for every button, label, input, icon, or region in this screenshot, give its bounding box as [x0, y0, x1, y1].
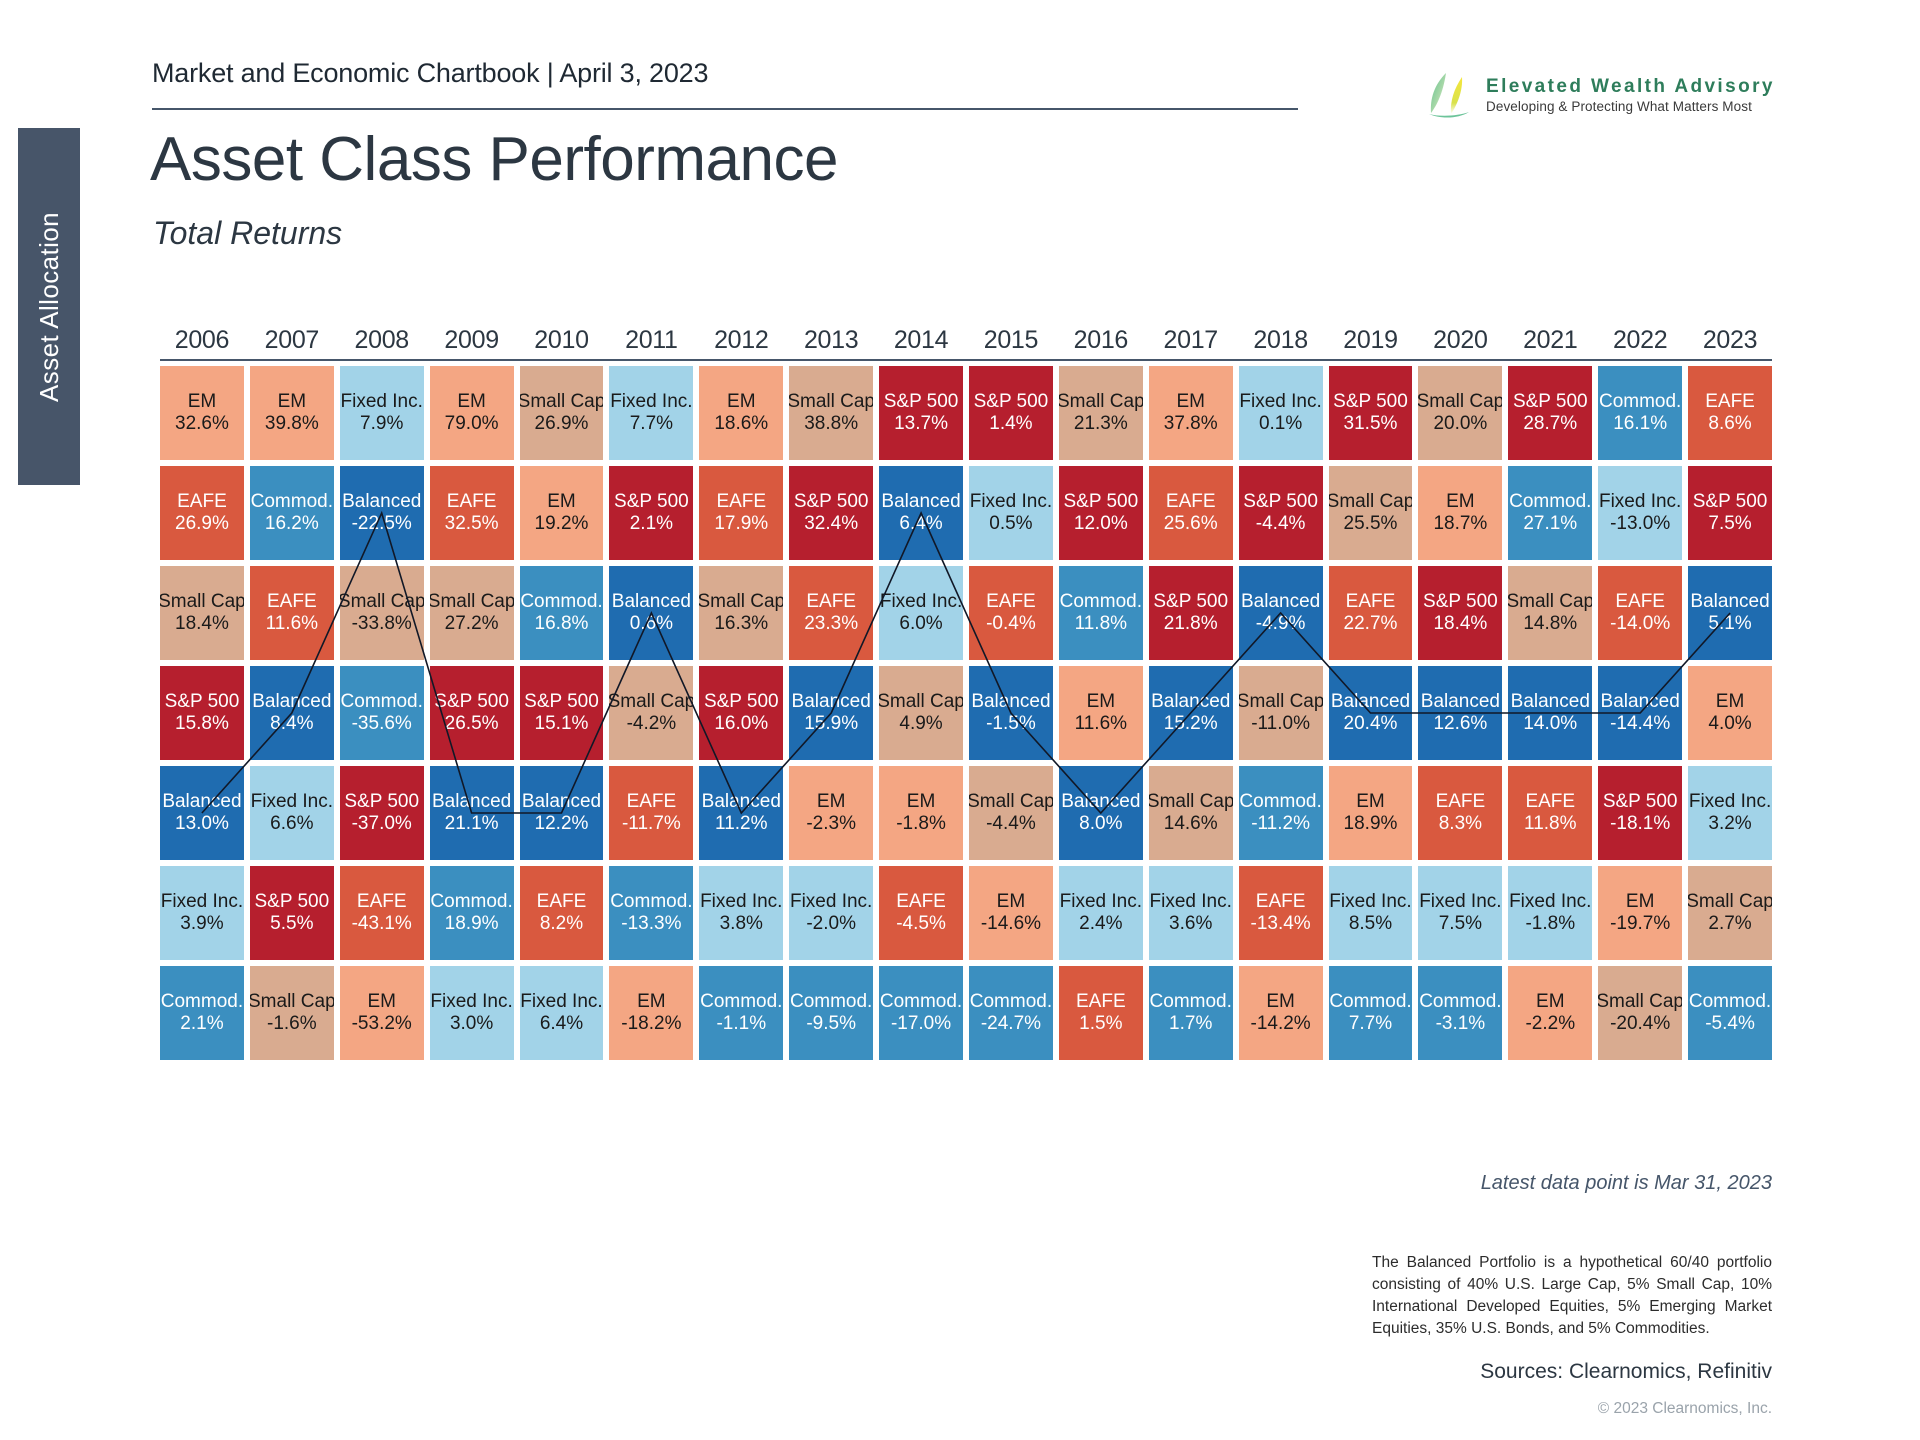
- performance-cell: EM-14.2%: [1239, 966, 1323, 1060]
- performance-cell: EM-2.3%: [789, 766, 873, 860]
- performance-cell: Balanced20.4%: [1329, 666, 1413, 760]
- asset-class-label: Commod.: [1419, 991, 1501, 1013]
- year-header: 2018: [1239, 326, 1323, 355]
- asset-class-label: Small Cap: [1688, 891, 1772, 913]
- return-value: 5.5%: [270, 913, 313, 935]
- performance-cell: Commod.-11.2%: [1239, 766, 1323, 860]
- asset-class-label: Fixed Inc.: [1060, 891, 1142, 913]
- return-value: 5.1%: [1708, 613, 1751, 635]
- return-value: 21.3%: [1074, 413, 1128, 435]
- performance-cell: EM39.8%: [250, 366, 334, 460]
- performance-cell: Commod.16.8%: [520, 566, 604, 660]
- performance-cell: Commod.-9.5%: [789, 966, 873, 1060]
- performance-cell: Fixed Inc.3.8%: [699, 866, 783, 960]
- return-value: -2.0%: [806, 913, 856, 935]
- performance-cell: Small Cap-4.2%: [609, 666, 693, 760]
- return-value: -18.2%: [621, 1013, 681, 1035]
- return-value: 18.4%: [175, 613, 229, 635]
- performance-cell: S&P 500-18.1%: [1598, 766, 1682, 860]
- return-value: -53.2%: [352, 1013, 412, 1035]
- asset-class-label: Fixed Inc.: [1509, 891, 1591, 913]
- return-value: -4.4%: [1256, 513, 1306, 535]
- performance-cell: Fixed Inc.6.4%: [520, 966, 604, 1060]
- performance-cell: EAFE17.9%: [699, 466, 783, 560]
- return-value: 37.8%: [1164, 413, 1218, 435]
- return-value: 8.6%: [1708, 413, 1751, 435]
- return-value: 15.1%: [535, 713, 589, 735]
- performance-cell: Small Cap27.2%: [430, 566, 514, 660]
- return-value: 7.9%: [360, 413, 403, 435]
- return-value: 3.2%: [1708, 813, 1751, 835]
- performance-cell: Fixed Inc.7.7%: [609, 366, 693, 460]
- asset-class-label: EAFE: [1256, 891, 1306, 913]
- return-value: -11.0%: [1251, 713, 1310, 735]
- asset-class-performance-table: 2006200720082009201020112012201320142015…: [160, 326, 1772, 1060]
- return-value: 12.6%: [1433, 713, 1487, 735]
- asset-class-label: S&P 500: [254, 891, 329, 913]
- performance-cell: Commod.16.1%: [1598, 366, 1682, 460]
- performance-cell: Commod.1.7%: [1149, 966, 1233, 1060]
- performance-cell: Commod.-24.7%: [969, 966, 1053, 1060]
- asset-class-label: EAFE: [1076, 991, 1126, 1013]
- chartbook-page: Asset Allocation Market and Economic Cha…: [0, 0, 1920, 1440]
- performance-cell: EAFE-4.5%: [879, 866, 963, 960]
- performance-cell: Balanced8.4%: [250, 666, 334, 760]
- performance-cell: EM19.2%: [520, 466, 604, 560]
- performance-cell: Small Cap-20.4%: [1598, 966, 1682, 1060]
- return-value: 18.4%: [1433, 613, 1487, 635]
- return-value: 39.8%: [265, 413, 319, 435]
- chartbook-kicker: Market and Economic Chartbook | April 3,…: [152, 58, 708, 89]
- asset-class-label: Balanced: [1331, 691, 1410, 713]
- return-value: 28.7%: [1523, 413, 1577, 435]
- asset-class-label: S&P 500: [1243, 491, 1318, 513]
- return-value: 3.0%: [450, 1013, 493, 1035]
- performance-cell: Commod.11.8%: [1059, 566, 1143, 660]
- asset-class-label: Fixed Inc.: [880, 591, 962, 613]
- performance-cell: Commod.-17.0%: [879, 966, 963, 1060]
- asset-class-label: Fixed Inc.: [1599, 491, 1681, 513]
- return-value: 0.5%: [989, 513, 1032, 535]
- performance-cell: Commod.7.7%: [1329, 966, 1413, 1060]
- asset-class-label: Commod.: [1150, 991, 1232, 1013]
- return-value: 22.7%: [1344, 613, 1398, 635]
- asset-class-label: S&P 500: [1063, 491, 1138, 513]
- performance-cell: EM4.0%: [1688, 666, 1772, 760]
- performance-cell: Fixed Inc.0.1%: [1239, 366, 1323, 460]
- sailboat-leaf-icon: [1424, 69, 1476, 121]
- asset-class-label: S&P 500: [884, 391, 959, 413]
- return-value: 16.3%: [714, 613, 768, 635]
- year-header: 2021: [1508, 326, 1592, 355]
- asset-class-label: EM: [1536, 991, 1565, 1013]
- asset-class-label: Small Cap: [430, 591, 514, 613]
- asset-class-label: Balanced: [1690, 591, 1769, 613]
- asset-class-label: S&P 500: [165, 691, 240, 713]
- year-header: 2012: [699, 326, 783, 355]
- performance-cell: S&P 500-4.4%: [1239, 466, 1323, 560]
- performance-cell: EM37.8%: [1149, 366, 1233, 460]
- performance-cell: EM11.6%: [1059, 666, 1143, 760]
- performance-cell: EAFE11.8%: [1508, 766, 1592, 860]
- return-value: -9.5%: [806, 1013, 856, 1035]
- asset-class-label: EAFE: [1525, 791, 1575, 813]
- asset-class-label: S&P 500: [1423, 591, 1498, 613]
- performance-cell: Commod.-35.6%: [340, 666, 424, 760]
- performance-cell: Balanced6.4%: [879, 466, 963, 560]
- performance-cell: Small Cap-11.0%: [1239, 666, 1323, 760]
- asset-class-label: Commod.: [520, 591, 602, 613]
- page-title: Asset Class Performance: [150, 124, 838, 195]
- return-value: 19.2%: [535, 513, 589, 535]
- return-value: 11.6%: [1075, 713, 1127, 735]
- performance-cell: Small Cap14.6%: [1149, 766, 1233, 860]
- asset-class-label: Commod.: [970, 991, 1052, 1013]
- asset-class-label: EM: [1266, 991, 1295, 1013]
- performance-cell: EAFE-13.4%: [1239, 866, 1323, 960]
- performance-cell-grid: EM32.6%EM39.8%Fixed Inc.7.9%EM79.0%Small…: [160, 366, 1772, 1060]
- return-value: 25.6%: [1164, 513, 1218, 535]
- return-value: 16.0%: [714, 713, 768, 735]
- asset-class-label: EM: [367, 991, 396, 1013]
- asset-class-label: Fixed Inc.: [430, 991, 512, 1013]
- return-value: 12.0%: [1074, 513, 1128, 535]
- performance-cell: Commod.-3.1%: [1418, 966, 1502, 1060]
- performance-cell: Balanced12.2%: [520, 766, 604, 860]
- return-value: -43.1%: [352, 913, 412, 935]
- performance-cell: Balanced-1.5%: [969, 666, 1053, 760]
- return-value: 18.6%: [714, 413, 768, 435]
- return-value: 3.9%: [180, 913, 223, 935]
- asset-class-label: Commod.: [251, 491, 333, 513]
- asset-class-label: Balanced: [1421, 691, 1500, 713]
- section-tab-asset-allocation: Asset Allocation: [18, 128, 80, 485]
- performance-cell: EAFE32.5%: [430, 466, 514, 560]
- performance-cell: EAFE11.6%: [250, 566, 334, 660]
- return-value: 7.5%: [1439, 913, 1482, 935]
- return-value: -14.0%: [1610, 613, 1670, 635]
- performance-cell: Fixed Inc.7.5%: [1418, 866, 1502, 960]
- asset-class-label: EM: [1087, 691, 1116, 713]
- return-value: 1.7%: [1169, 1013, 1212, 1035]
- return-value: 26.9%: [175, 513, 229, 535]
- year-header: 2007: [250, 326, 334, 355]
- performance-cell: S&P 50012.0%: [1059, 466, 1143, 560]
- asset-class-label: Fixed Inc.: [1329, 891, 1411, 913]
- return-value: 15.9%: [804, 713, 858, 735]
- return-value: 15.2%: [1164, 713, 1218, 735]
- asset-class-label: EM: [727, 391, 756, 413]
- performance-cell: EM-1.8%: [879, 766, 963, 860]
- asset-class-label: Commod.: [341, 691, 423, 713]
- asset-class-label: Commod.: [161, 991, 243, 1013]
- asset-class-label: Small Cap: [699, 591, 783, 613]
- table-header-divider: [160, 359, 1772, 361]
- performance-cell: EAFE-0.4%: [969, 566, 1053, 660]
- asset-class-label: Fixed Inc.: [1239, 391, 1321, 413]
- asset-class-label: EM: [1356, 791, 1385, 813]
- return-value: 8.4%: [270, 713, 313, 735]
- performance-cell: Balanced-4.9%: [1239, 566, 1323, 660]
- performance-cell: Fixed Inc.3.6%: [1149, 866, 1233, 960]
- return-value: 17.9%: [714, 513, 768, 535]
- performance-cell: Commod.2.1%: [160, 966, 244, 1060]
- return-value: -4.9%: [1256, 613, 1306, 635]
- return-value: 11.6%: [266, 613, 318, 635]
- performance-cell: Small Cap20.0%: [1418, 366, 1502, 460]
- return-value: 2.7%: [1708, 913, 1751, 935]
- performance-cell: Commod.-13.3%: [609, 866, 693, 960]
- performance-cell: Fixed Inc.3.0%: [430, 966, 514, 1060]
- asset-class-label: Small Cap: [609, 691, 693, 713]
- asset-class-label: Commod.: [610, 891, 692, 913]
- asset-class-label: Small Cap: [879, 691, 963, 713]
- return-value: -11.2%: [1251, 813, 1310, 835]
- asset-class-label: EAFE: [806, 591, 856, 613]
- asset-class-label: EM: [1716, 691, 1745, 713]
- performance-cell: Fixed Inc.3.2%: [1688, 766, 1772, 860]
- year-header: 2015: [969, 326, 1053, 355]
- asset-class-label: Small Cap: [1149, 791, 1233, 813]
- return-value: -14.4%: [1610, 713, 1670, 735]
- logo-company-name: Elevated Wealth Advisory: [1486, 76, 1775, 98]
- return-value: 6.4%: [540, 1013, 583, 1035]
- return-value: 11.8%: [1524, 813, 1576, 835]
- asset-class-label: Balanced: [612, 591, 691, 613]
- performance-cell: Commod.18.9%: [430, 866, 514, 960]
- return-value: 20.4%: [1344, 713, 1398, 735]
- asset-class-label: S&P 500: [1153, 591, 1228, 613]
- return-value: -14.2%: [1251, 1013, 1311, 1035]
- return-value: 0.6%: [630, 613, 673, 635]
- year-header: 2008: [340, 326, 424, 355]
- return-value: 8.0%: [1079, 813, 1122, 835]
- performance-cell: S&P 50013.7%: [879, 366, 963, 460]
- asset-class-label: EM: [457, 391, 486, 413]
- performance-cell: Balanced-22.5%: [340, 466, 424, 560]
- return-value: 20.0%: [1433, 413, 1487, 435]
- return-value: 4.0%: [1708, 713, 1751, 735]
- asset-class-label: Small Cap: [1239, 691, 1323, 713]
- asset-class-label: Fixed Inc.: [970, 491, 1052, 513]
- return-value: 14.6%: [1164, 813, 1218, 835]
- asset-class-label: Balanced: [522, 791, 601, 813]
- return-value: -1.5%: [986, 713, 1036, 735]
- asset-class-label: S&P 500: [614, 491, 689, 513]
- performance-cell: Fixed Inc.0.5%: [969, 466, 1053, 560]
- return-value: 8.5%: [1349, 913, 1392, 935]
- asset-class-label: EM: [1446, 491, 1475, 513]
- asset-class-label: S&P 500: [704, 691, 779, 713]
- performance-cell: S&P 5007.5%: [1688, 466, 1772, 560]
- year-header: 2006: [160, 326, 244, 355]
- return-value: 11.2%: [715, 813, 767, 835]
- performance-cell: S&P 500-37.0%: [340, 766, 424, 860]
- return-value: 15.8%: [175, 713, 229, 735]
- asset-class-label: Small Cap: [160, 591, 244, 613]
- performance-cell: Fixed Inc.6.0%: [879, 566, 963, 660]
- performance-cell: Fixed Inc.2.4%: [1059, 866, 1143, 960]
- performance-cell: S&P 50021.8%: [1149, 566, 1233, 660]
- performance-cell: Fixed Inc.-2.0%: [789, 866, 873, 960]
- return-value: 7.5%: [1708, 513, 1751, 535]
- performance-cell: Commod.-1.1%: [699, 966, 783, 1060]
- asset-class-label: EAFE: [447, 491, 497, 513]
- performance-cell: S&P 50032.4%: [789, 466, 873, 560]
- asset-class-label: Commod.: [1599, 391, 1681, 413]
- performance-cell: S&P 5002.1%: [609, 466, 693, 560]
- asset-class-label: Fixed Inc.: [1150, 891, 1232, 913]
- return-value: 3.6%: [1169, 913, 1212, 935]
- return-value: -22.5%: [352, 513, 412, 535]
- year-header: 2013: [789, 326, 873, 355]
- return-value: 6.0%: [899, 613, 942, 635]
- return-value: 18.9%: [445, 913, 499, 935]
- return-value: 13.7%: [894, 413, 948, 435]
- performance-cell: Fixed Inc.7.9%: [340, 366, 424, 460]
- asset-class-label: EAFE: [357, 891, 407, 913]
- page-subtitle: Total Returns: [153, 215, 342, 252]
- performance-cell: Commod.27.1%: [1508, 466, 1592, 560]
- asset-class-label: Fixed Inc.: [700, 891, 782, 913]
- asset-class-label: EM: [547, 491, 576, 513]
- return-value: 7.7%: [1349, 1013, 1392, 1035]
- asset-class-label: Fixed Inc.: [1419, 891, 1501, 913]
- performance-cell: Commod.16.2%: [250, 466, 334, 560]
- return-value: 1.5%: [1079, 1013, 1122, 1035]
- return-value: 26.9%: [535, 413, 589, 435]
- return-value: -4.4%: [986, 813, 1036, 835]
- asset-class-label: Small Cap: [1059, 391, 1143, 413]
- return-value: 21.8%: [1164, 613, 1218, 635]
- header-divider: [152, 108, 1298, 110]
- performance-cell: S&P 50018.4%: [1418, 566, 1502, 660]
- asset-class-label: Balanced: [1511, 691, 1590, 713]
- return-value: 25.5%: [1344, 513, 1398, 535]
- return-value: -0.4%: [986, 613, 1036, 635]
- brand-logo: Elevated Wealth Advisory Developing & Pr…: [1424, 66, 1754, 124]
- logo-text-block: Elevated Wealth Advisory Developing & Pr…: [1486, 76, 1775, 114]
- asset-class-label: Commod.: [430, 891, 512, 913]
- performance-cell: EAFE25.6%: [1149, 466, 1233, 560]
- return-value: -1.1%: [716, 1013, 766, 1035]
- return-value: 16.8%: [535, 613, 589, 635]
- asset-class-label: EM: [278, 391, 307, 413]
- performance-cell: S&P 50015.8%: [160, 666, 244, 760]
- performance-cell: EM18.6%: [699, 366, 783, 460]
- performance-cell: Small Cap2.7%: [1688, 866, 1772, 960]
- performance-cell: EM18.7%: [1418, 466, 1502, 560]
- return-value: 8.2%: [540, 913, 583, 935]
- performance-cell: S&P 50016.0%: [699, 666, 783, 760]
- year-header: 2017: [1149, 326, 1233, 355]
- performance-cell: EM32.6%: [160, 366, 244, 460]
- asset-class-label: Balanced: [162, 791, 241, 813]
- return-value: -2.2%: [1525, 1013, 1575, 1035]
- asset-class-label: Small Cap: [250, 991, 334, 1013]
- return-value: 18.9%: [1344, 813, 1398, 835]
- performance-cell: S&P 50026.5%: [430, 666, 514, 760]
- asset-class-label: Fixed Inc.: [790, 891, 872, 913]
- asset-class-label: Small Cap: [1418, 391, 1502, 413]
- return-value: -35.6%: [352, 713, 412, 735]
- year-header: 2022: [1598, 326, 1682, 355]
- return-value: 8.3%: [1439, 813, 1482, 835]
- asset-class-label: S&P 500: [524, 691, 599, 713]
- performance-cell: Small Cap16.3%: [699, 566, 783, 660]
- asset-class-label: Balanced: [881, 491, 960, 513]
- performance-cell: Balanced-14.4%: [1598, 666, 1682, 760]
- year-header: 2009: [430, 326, 514, 355]
- year-header: 2023: [1688, 326, 1772, 355]
- performance-cell: EAFE8.2%: [520, 866, 604, 960]
- asset-class-label: EAFE: [627, 791, 677, 813]
- asset-class-label: Balanced: [1241, 591, 1320, 613]
- return-value: -14.6%: [981, 913, 1041, 935]
- logo-tagline: Developing & Protecting What Matters Mos…: [1486, 99, 1775, 114]
- performance-cell: EAFE8.6%: [1688, 366, 1772, 460]
- asset-class-label: EM: [188, 391, 217, 413]
- asset-class-label: Commod.: [1509, 491, 1591, 513]
- asset-class-label: Commod.: [1060, 591, 1142, 613]
- asset-class-label: Small Cap: [1329, 491, 1413, 513]
- asset-class-label: EAFE: [896, 891, 946, 913]
- return-value: -33.8%: [352, 613, 412, 635]
- performance-cell: Balanced21.1%: [430, 766, 514, 860]
- performance-cell: Fixed Inc.8.5%: [1329, 866, 1413, 960]
- performance-cell: EAFE-14.0%: [1598, 566, 1682, 660]
- return-value: 79.0%: [445, 413, 499, 435]
- asset-class-label: Commod.: [880, 991, 962, 1013]
- return-value: 11.8%: [1075, 613, 1127, 635]
- asset-class-label: Balanced: [1601, 691, 1680, 713]
- balanced-portfolio-disclaimer: The Balanced Portfolio is a hypothetical…: [1372, 1252, 1772, 1340]
- performance-cell: EAFE23.3%: [789, 566, 873, 660]
- year-header-row: 2006200720082009201020112012201320142015…: [160, 326, 1772, 355]
- asset-class-label: Fixed Inc.: [251, 791, 333, 813]
- latest-data-point-note: Latest data point is Mar 31, 2023: [1080, 1172, 1772, 1195]
- asset-class-label: Fixed Inc.: [161, 891, 243, 913]
- performance-cell: Balanced12.6%: [1418, 666, 1502, 760]
- return-value: -24.7%: [981, 1013, 1041, 1035]
- asset-class-label: Commod.: [1329, 991, 1411, 1013]
- performance-cell: Small Cap26.9%: [520, 366, 604, 460]
- performance-cell: EM-2.2%: [1508, 966, 1592, 1060]
- performance-cell: S&P 50015.1%: [520, 666, 604, 760]
- return-value: -11.7%: [622, 813, 681, 835]
- return-value: 38.8%: [804, 413, 858, 435]
- performance-cell: EAFE1.5%: [1059, 966, 1143, 1060]
- asset-class-label: Small Cap: [969, 791, 1053, 813]
- performance-cell: S&P 50028.7%: [1508, 366, 1592, 460]
- return-value: 14.8%: [1523, 613, 1577, 635]
- return-value: 16.2%: [265, 513, 319, 535]
- asset-class-label: Balanced: [1061, 791, 1140, 813]
- asset-class-label: S&P 500: [1333, 391, 1408, 413]
- return-value: -3.1%: [1436, 1013, 1486, 1035]
- performance-cell: Small Cap-33.8%: [340, 566, 424, 660]
- return-value: 1.4%: [989, 413, 1032, 435]
- asset-class-label: Balanced: [971, 691, 1050, 713]
- return-value: 6.6%: [270, 813, 313, 835]
- return-value: 27.1%: [1523, 513, 1577, 535]
- asset-class-label: EAFE: [537, 891, 587, 913]
- performance-cell: Small Cap18.4%: [160, 566, 244, 660]
- performance-cell: EAFE22.7%: [1329, 566, 1413, 660]
- asset-class-label: EAFE: [716, 491, 766, 513]
- performance-cell: EM79.0%: [430, 366, 514, 460]
- performance-cell: S&P 5005.5%: [250, 866, 334, 960]
